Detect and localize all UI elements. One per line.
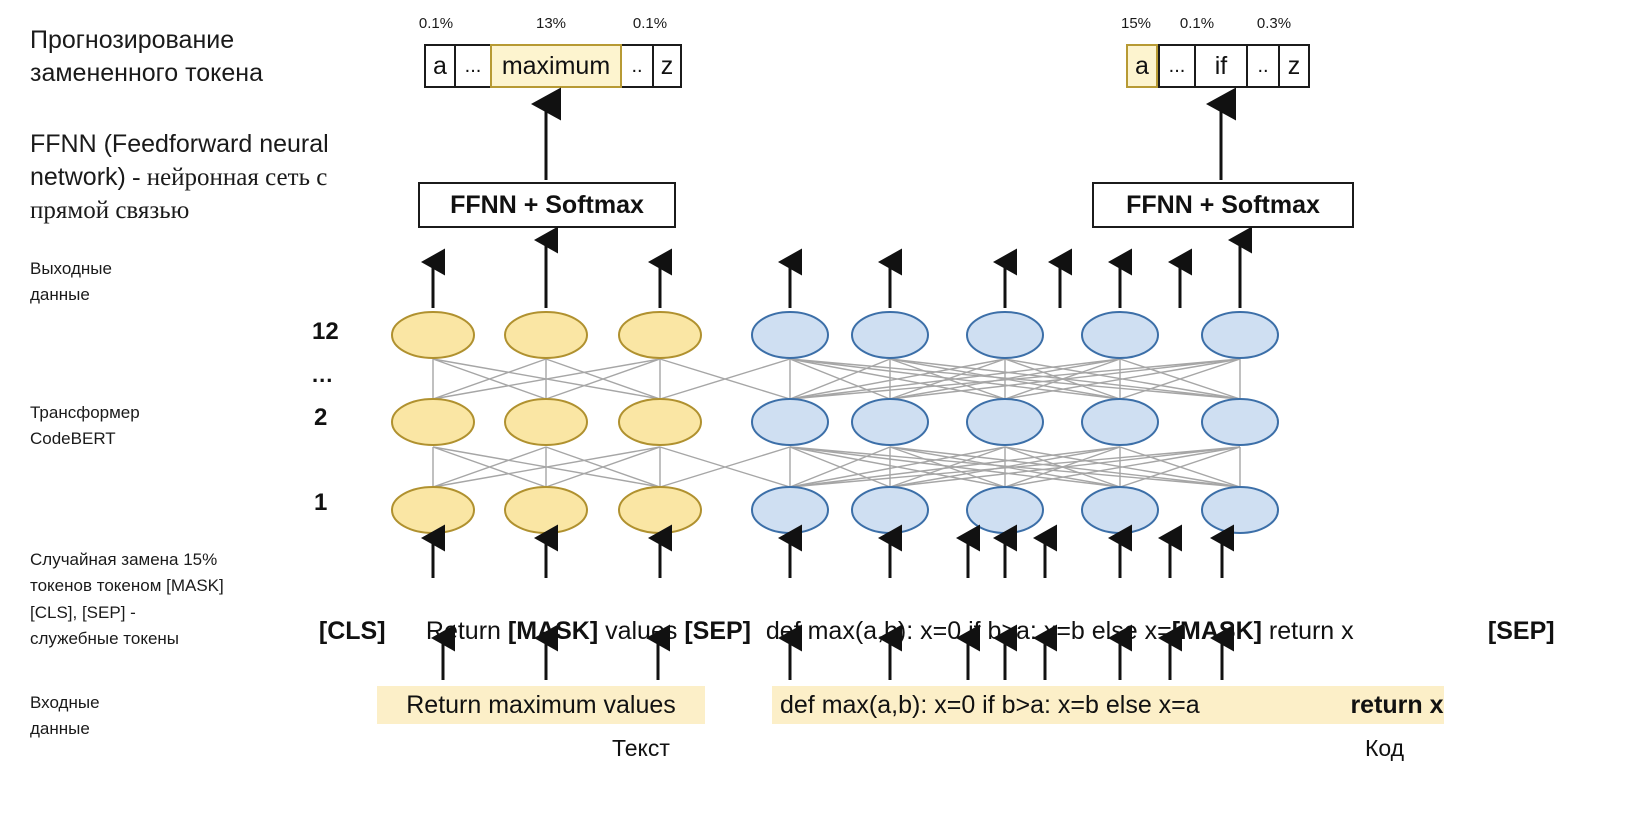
label-masking: Случайная замена 15% токенов токеном [MA…: [30, 547, 330, 652]
token-cls: [CLS]: [319, 617, 386, 645]
prediction-cell-ellipsis-1-right[interactable]: ...: [1158, 44, 1194, 88]
label-ffnn-line3: прямой связью: [30, 197, 189, 224]
label-transformer: Трансформер CodeBERT: [30, 400, 330, 453]
layer-12-nodes: [392, 312, 1278, 358]
layer-1-nodes: [392, 487, 1278, 533]
token-values: values: [598, 617, 684, 645]
prediction-right-percent-1: 0.1%: [1167, 15, 1227, 32]
ffnn-softmax-box-right[interactable]: FFNN + Softmax: [1092, 182, 1354, 228]
prediction-strip-left: a ... maximum .. z: [424, 44, 682, 88]
token-mask-2: [MASK]: [1172, 617, 1262, 645]
label-ffnn-line2-cyr: - нейронная сеть с: [126, 164, 327, 191]
token-return: Return: [426, 617, 508, 645]
prediction-left-percent-2: 0.1%: [622, 15, 678, 32]
token-row-sep-end: [SEP]: [1474, 588, 1555, 646]
input-box-code-tail[interactable]: return x: [1350, 686, 1444, 724]
prediction-left-percent-1: 13%: [506, 15, 596, 32]
label-input-text: Входные данные: [30, 693, 100, 738]
token-row-code: def max(a,b): x=0 if b>a: x=b else x=[MA…: [752, 588, 1354, 646]
layer-index-12: 12: [312, 318, 339, 346]
label-transformer-text: Трансформер CodeBERT: [30, 403, 140, 448]
prediction-cell-if[interactable]: if: [1194, 44, 1246, 88]
prediction-cell-a[interactable]: a: [424, 44, 454, 88]
prediction-cell-maximum[interactable]: maximum: [490, 44, 622, 88]
label-prediction: Прогнозирование замененного токена: [30, 24, 360, 89]
token-code-tail: return x: [1262, 617, 1354, 645]
label-masking-text: Случайная замена 15% токенов токеном [MA…: [30, 550, 224, 648]
label-output-text: Выходные данные: [30, 259, 112, 304]
prediction-cell-ellipsis-2-right[interactable]: ..: [1246, 44, 1278, 88]
prediction-cell-z[interactable]: z: [652, 44, 682, 88]
label-ffnn-line1: FFNN (Feedforward neural: [30, 130, 329, 158]
label-output: Выходные данные: [30, 256, 330, 309]
input-box-text[interactable]: Return maximum values: [377, 686, 705, 724]
token-code-head: def max(a,b): x=0 if b>a: x=b else x=: [766, 617, 1172, 645]
input-to-layer1-arrows: [433, 538, 1222, 578]
input-box-code[interactable]: def max(a,b): x=0 if b>a: x=b else x=a: [772, 686, 1350, 724]
connector-mesh: [433, 359, 1240, 487]
label-input: Входные данные: [30, 690, 330, 743]
output-arrows: [433, 240, 1240, 308]
ffnn-softmax-box-left[interactable]: FFNN + Softmax: [418, 182, 676, 228]
layer-index-1: 1: [314, 489, 327, 517]
label-ffnn-line2-latin: network): [30, 163, 126, 191]
prediction-right-percent-2: 0.3%: [1244, 15, 1304, 32]
layer-2-nodes: [392, 399, 1278, 445]
token-row-cls: [CLS]: [305, 588, 386, 646]
token-sep-1: [SEP]: [684, 617, 751, 645]
prediction-cell-a-right[interactable]: a: [1126, 44, 1158, 88]
prediction-cell-ellipsis-2[interactable]: ..: [622, 44, 652, 88]
label-prediction-text: Прогнозирование замененного токена: [30, 26, 263, 87]
prediction-cell-ellipsis-1[interactable]: ...: [454, 44, 490, 88]
caption-text: Текст: [612, 735, 670, 762]
prediction-left-percent-0: 0.1%: [408, 15, 464, 32]
prediction-cell-z-right[interactable]: z: [1278, 44, 1310, 88]
token-sep-2: [SEP]: [1488, 617, 1555, 645]
label-ffnn: FFNN (Feedforward neural network) - нейр…: [30, 128, 410, 228]
ffnn-to-prediction-arrows: [546, 104, 1221, 180]
prediction-right-percent-0: 15%: [1108, 15, 1164, 32]
token-mask-1: [MASK]: [508, 617, 598, 645]
layer-index-dots: ...: [312, 362, 333, 388]
prediction-strip-right: a ... if .. z: [1126, 44, 1310, 88]
layer-index-2: 2: [314, 404, 327, 432]
caption-code: Код: [1365, 735, 1404, 762]
token-row-text: Return [MASK] values [SEP]: [412, 588, 751, 646]
